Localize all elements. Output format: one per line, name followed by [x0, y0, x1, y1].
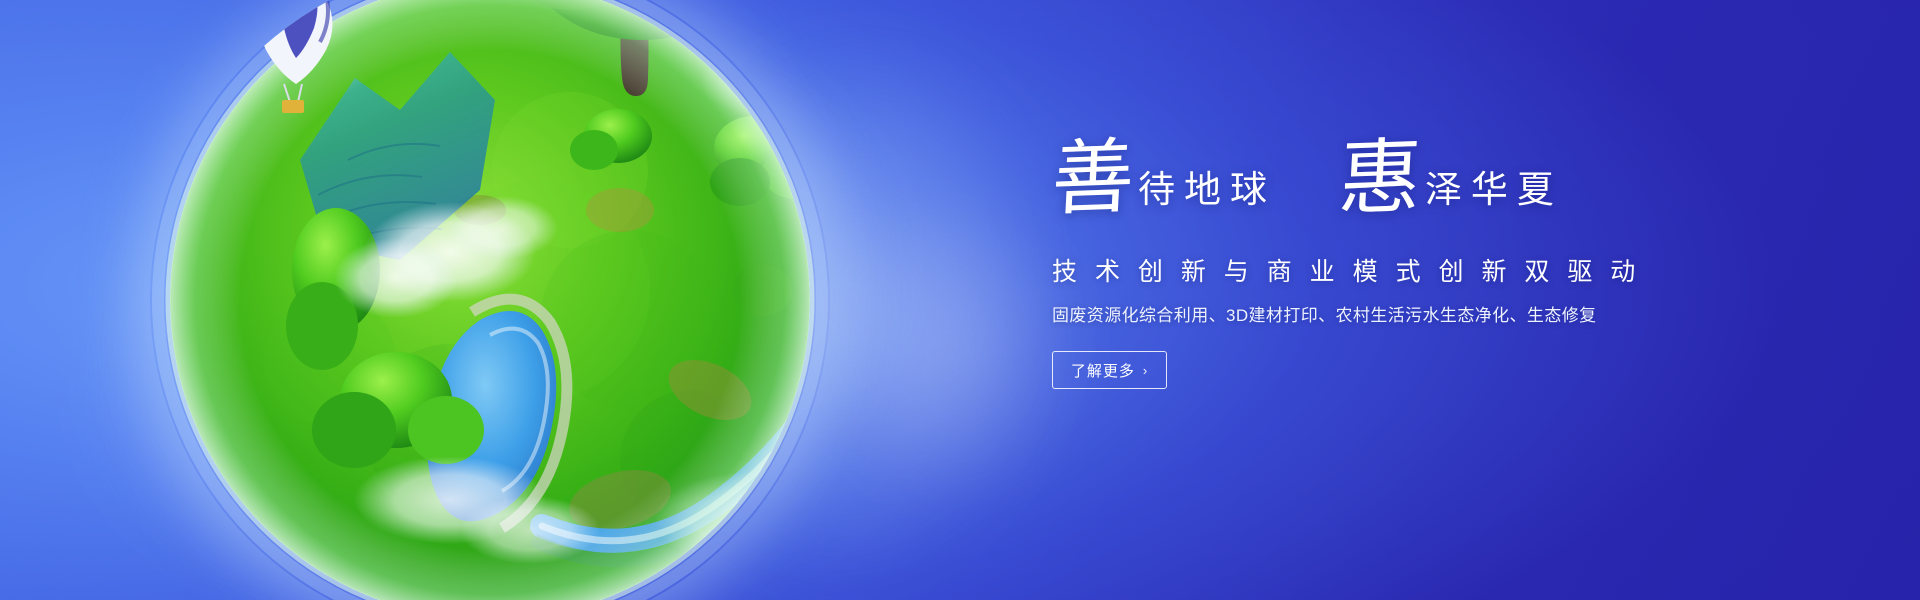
- learn-more-label: 了解更多: [1071, 360, 1135, 381]
- headline-big-char-2: 惠: [1337, 137, 1424, 222]
- hero-banner: 善待地球 惠泽华夏 技 术 创 新 与 商 业 模 式 创 新 双 驱 动 固废…: [0, 0, 1920, 600]
- headline-small-chars-2: 泽华夏: [1425, 171, 1563, 208]
- headline-big-char-1: 善: [1050, 137, 1137, 222]
- page-subtitle: 技 术 创 新 与 商 业 模 式 创 新 双 驱 动: [1052, 256, 1572, 288]
- globe-artwork: [150, 0, 830, 600]
- headline-group-1: 善待地球: [1052, 138, 1276, 220]
- banner-content: 善待地球 惠泽华夏 技 术 创 新 与 商 业 模 式 创 新 双 驱 动 固废…: [1052, 138, 1572, 389]
- headline-group-2: 惠泽华夏: [1339, 138, 1563, 220]
- learn-more-button[interactable]: 了解更多 ›: [1052, 351, 1167, 389]
- page-title: 善待地球 惠泽华夏: [1052, 138, 1572, 242]
- page-description: 固废资源化综合利用、3D建材打印、农村生活污水生态净化、生态修复: [1052, 303, 1572, 329]
- chevron-right-icon: ›: [1143, 364, 1148, 377]
- headline-small-chars-1: 待地球: [1138, 171, 1276, 208]
- globe-sphere: [150, 0, 830, 600]
